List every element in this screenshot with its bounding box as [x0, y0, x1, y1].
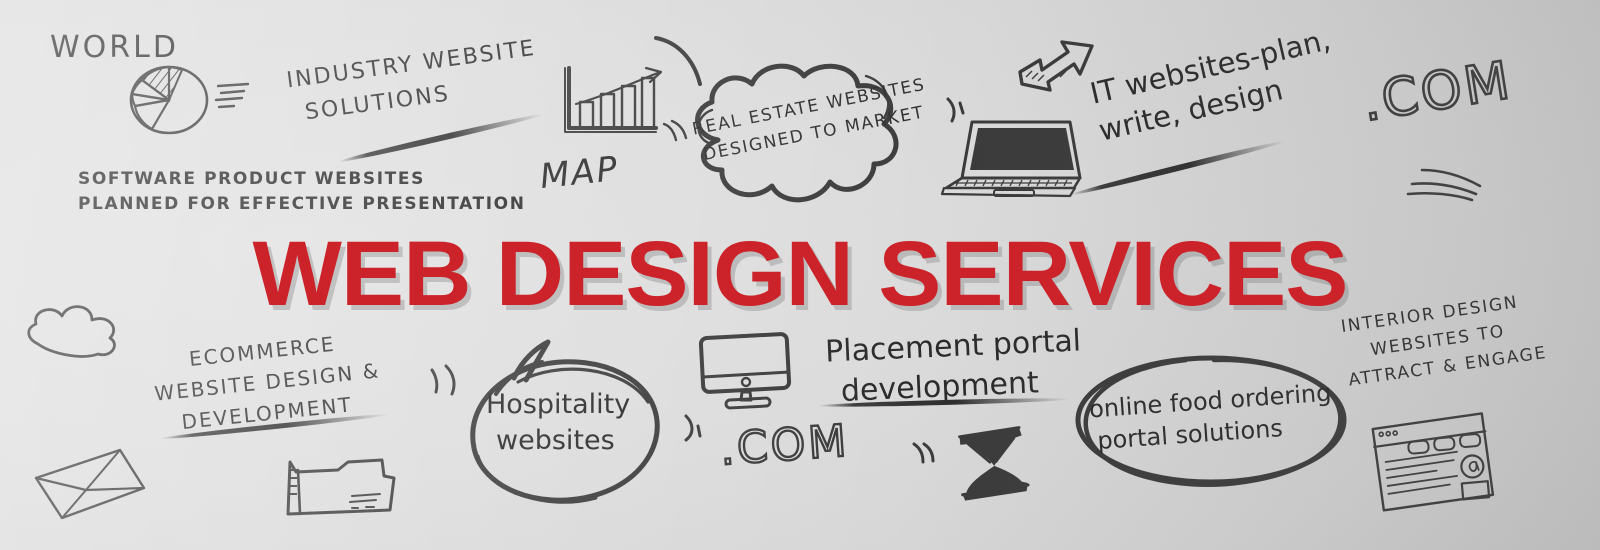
hourglass-icon [948, 428, 1038, 498]
note-hospitality: Hospitality websites [486, 388, 630, 458]
page-title: WEB DESIGN SERVICES [0, 222, 1600, 327]
banner-canvas: WEB DESIGN SERVICES WORLD [0, 0, 1600, 550]
note-ecommerce: ECOMMERCE WEBSITE DESIGN & DEVELOPMENT [150, 326, 385, 438]
note-it-websites: IT websites-plan, write, design [1087, 21, 1343, 149]
folder-icon [280, 448, 400, 524]
note-dot-com-top: .COM [1358, 51, 1516, 134]
laptop-icon [932, 112, 1092, 202]
note-hospitality-line2: websites [496, 424, 630, 458]
note-industry-website-solutions: INDUSTRY WEBSITE SOLUTIONS [285, 34, 542, 130]
browser-window-icon [1368, 414, 1496, 514]
monitor-icon [694, 330, 800, 410]
note-software-product-websites: SOFTWARE PRODUCT WEBSITES PLANNED FOR EF… [78, 168, 526, 215]
speed-lines-icon [1404, 160, 1490, 202]
envelope-icon [28, 444, 150, 524]
pie-chart-icon [122, 62, 252, 138]
note-software-line2: PLANNED FOR EFFECTIVE PRESENTATION [78, 193, 526, 215]
motion-ticks-bubble-right-icon [680, 412, 710, 444]
note-dot-com-bottom: .COM [718, 416, 851, 476]
note-hospitality-line1: Hospitality [486, 388, 630, 422]
motion-ticks-hourglass-icon [908, 440, 938, 466]
arrow-icon [1010, 32, 1100, 94]
note-software-line1: SOFTWARE PRODUCT WEBSITES [78, 168, 526, 190]
note-map: MAP [538, 148, 621, 199]
